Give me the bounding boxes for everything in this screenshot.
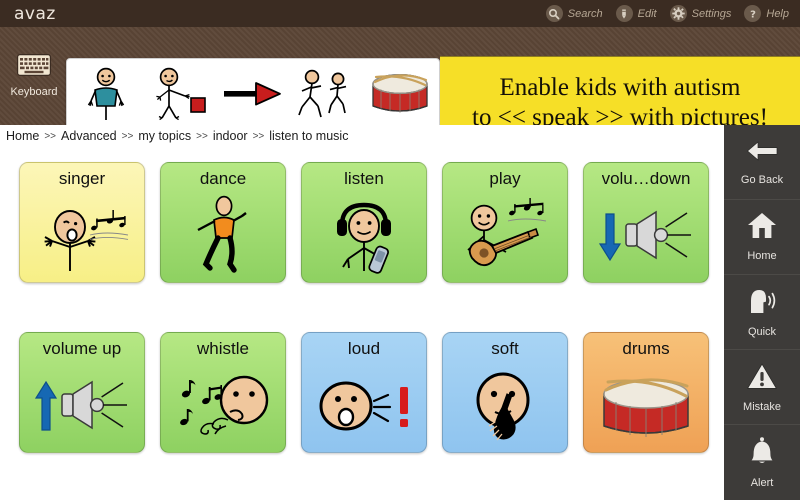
grid-cell-label: singer [59, 169, 105, 189]
snare-drum-icon [584, 359, 708, 452]
sentence-band: Keyboard [0, 27, 800, 125]
whistling-face-with-notes-icon [161, 359, 285, 452]
menu-label-settings: Settings [692, 8, 732, 20]
keyboard-icon [17, 54, 51, 81]
search-icon [546, 5, 563, 22]
menu-item-help[interactable]: ? Help [744, 5, 789, 22]
menu-label-help: Help [766, 8, 789, 20]
dancing-figure-icon [161, 189, 285, 282]
breadcrumb-item-indoor[interactable]: indoor [213, 129, 248, 143]
question-icon: ? [744, 5, 761, 22]
menu-item-search[interactable]: Search [546, 5, 603, 22]
face-shushing-icon [443, 359, 567, 452]
sidebar-item-go-back[interactable]: Go Back [724, 125, 800, 200]
arrow-right-icon [216, 62, 290, 126]
avaz-app: avaz Search [0, 0, 800, 500]
menu-item-edit[interactable]: Edit [616, 5, 657, 22]
breadcrumb-item-home[interactable]: Home [6, 129, 39, 143]
home-icon [747, 212, 777, 244]
grid-cell-label: soft [491, 339, 518, 359]
svg-text:?: ? [750, 9, 756, 20]
breadcrumb: Home >> Advanced >> my topics >> indoor … [0, 125, 724, 147]
grid-cell-label: listen [344, 169, 384, 189]
two-running-figures-icon [290, 62, 364, 126]
grid-cell-label: play [489, 169, 520, 189]
face-shouting-exclamation-icon [302, 359, 426, 452]
person-reaching-for-block-icon [143, 62, 217, 126]
breadcrumb-item-advanced[interactable]: Advanced [61, 129, 117, 143]
sidebar-item-label: Quick [748, 326, 776, 338]
figure-with-guitar-icon [443, 189, 567, 282]
breadcrumb-separator: >> [122, 131, 134, 142]
breadcrumb-item-listen-to-music[interactable]: listen to music [269, 129, 348, 143]
sidebar-item-alert[interactable]: Alert [724, 425, 800, 500]
breadcrumb-separator: >> [44, 131, 56, 142]
app-brand: avaz [14, 4, 56, 24]
grid-cell-dance[interactable]: dance [160, 162, 286, 283]
sidebar-item-label: Home [747, 250, 776, 262]
singing-figure-with-notes-icon [20, 189, 144, 282]
gear-icon [670, 5, 687, 22]
grid-cell-whistle[interactable]: whistle [160, 332, 286, 453]
breadcrumb-separator: >> [196, 131, 208, 142]
grid-cell-volume-up[interactable]: volume up [19, 332, 145, 453]
speaker-with-down-arrow-icon [584, 189, 708, 282]
sidebar-item-label: Mistake [743, 401, 781, 413]
snare-drum-icon [363, 62, 437, 126]
breadcrumb-separator: >> [253, 131, 265, 142]
symbol-grid: singer [0, 147, 724, 500]
breadcrumb-item-my-topics[interactable]: my topics [138, 129, 191, 143]
back-arrow-icon [745, 139, 779, 168]
menu-item-settings[interactable]: Settings [670, 5, 732, 22]
grid-cell-loud[interactable]: loud [301, 332, 427, 453]
menu-label-edit: Edit [638, 8, 657, 20]
person-standing-icon [69, 62, 143, 126]
promo-banner-line1: Enable kids with autism [500, 73, 741, 103]
grid-cell-label: volume up [43, 339, 121, 359]
grid-cell-label: whistle [197, 339, 249, 359]
menu-label-search: Search [568, 8, 603, 20]
grid-cell-play[interactable]: play [442, 162, 568, 283]
speaking-head-icon [745, 287, 779, 320]
right-sidebar: Go Back Home Quick [724, 125, 800, 500]
pencil-icon [616, 5, 633, 22]
grid-cell-drums[interactable]: drums [583, 332, 709, 453]
grid-cell-singer[interactable]: singer [19, 162, 145, 283]
figure-with-headphones-icon [302, 189, 426, 282]
grid-cell-label: dance [200, 169, 246, 189]
sidebar-item-label: Go Back [741, 174, 783, 186]
warning-triangle-icon [746, 362, 778, 395]
grid-cell-volume-down[interactable]: volu…down [583, 162, 709, 283]
top-bar: avaz Search [0, 0, 800, 27]
sidebar-item-home[interactable]: Home [724, 200, 800, 275]
grid-cell-label: loud [348, 339, 380, 359]
grid-cell-soft[interactable]: soft [442, 332, 568, 453]
keyboard-button[interactable]: Keyboard [6, 37, 62, 115]
grid-cell-label: drums [622, 339, 669, 359]
sidebar-item-label: Alert [751, 477, 774, 489]
keyboard-button-label: Keyboard [10, 86, 57, 98]
sidebar-item-mistake[interactable]: Mistake [724, 350, 800, 425]
bell-icon [748, 436, 776, 471]
speaker-with-up-arrow-icon [20, 359, 144, 452]
grid-cell-listen[interactable]: listen [301, 162, 427, 283]
top-menu: Search Edit [546, 5, 800, 22]
grid-cell-label: volu…down [602, 169, 691, 189]
sidebar-item-quick[interactable]: Quick [724, 275, 800, 350]
